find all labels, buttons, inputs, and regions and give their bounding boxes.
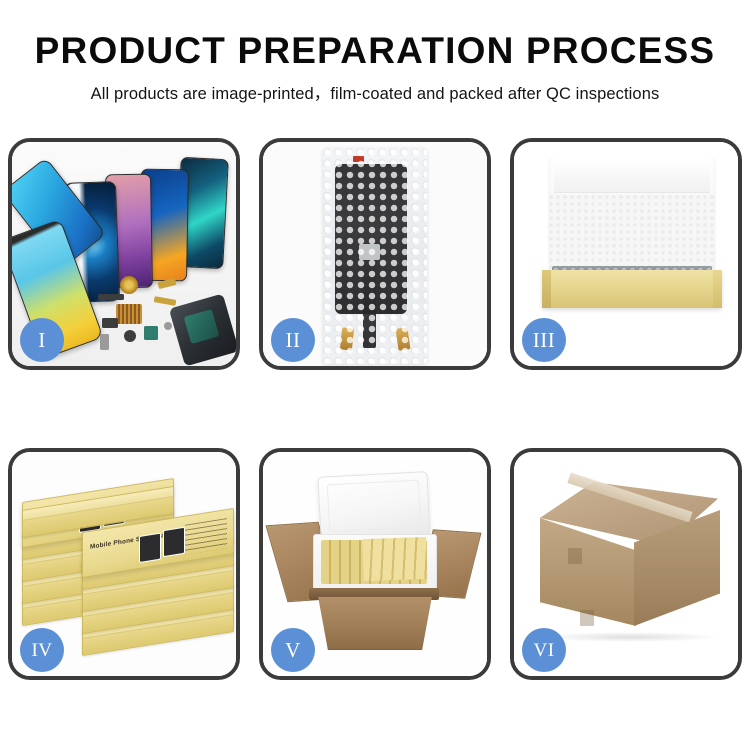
page-title: PRODUCT PREPARATION PROCESS [0, 32, 750, 71]
step-panel-6: VI [510, 448, 742, 680]
step-panel-3: III [510, 138, 742, 370]
step-panel-5: V [259, 448, 491, 680]
carton-flap-seam [568, 548, 582, 564]
gold-flex-part [157, 278, 176, 289]
gold-contact-tab-right [396, 327, 411, 350]
box-screen-thumbnail [163, 527, 185, 557]
box-spec-text-block [185, 518, 227, 555]
gold-flex-part-2 [154, 296, 177, 306]
step-badge-1: I [20, 318, 64, 362]
carton-flap-seam-2 [580, 610, 594, 626]
foam-liner-texture [548, 194, 716, 272]
box-brand-label: Mobile Phone Spare Parts [90, 531, 174, 551]
step-badge-2: II [271, 318, 315, 362]
step-badge-5: V [271, 628, 315, 672]
step-badge-6: VI [522, 628, 566, 672]
step-panel-2: II [259, 138, 491, 370]
step-panel-4: Mobile Phone Spare Parts Mobile Phone Sp… [8, 448, 240, 680]
step-badge-3: III [522, 318, 566, 362]
bubble-wrap-bag [323, 148, 427, 364]
qc-sticker [353, 156, 364, 162]
foam-cooler-lid [317, 471, 430, 541]
battery-connector-part [144, 326, 158, 340]
inner-boxes-row-2 [362, 537, 427, 581]
step-badge-4: IV [20, 628, 64, 672]
speaker-part-icon [120, 276, 138, 294]
cable-connector-pad [359, 244, 380, 260]
step-panel-1: I [8, 138, 240, 370]
sim-tray-part [100, 334, 109, 350]
header: PRODUCT PREPARATION PROCESS All products… [0, 0, 750, 104]
product-preparation-infographic: PRODUCT PREPARATION PROCESS All products… [0, 0, 750, 750]
process-steps-grid: I II [8, 138, 742, 680]
carton-front-panel [313, 596, 437, 650]
gold-contact-tab-left [340, 327, 354, 350]
mesh-chip-part [116, 304, 142, 324]
screw-part [164, 322, 172, 330]
connector-part [98, 294, 124, 300]
kraft-inner-box [542, 270, 722, 308]
camera-module-part [102, 318, 118, 328]
button-part [124, 330, 136, 342]
carton-shadow [542, 632, 718, 642]
box-screen-thumbnail [139, 533, 161, 563]
page-subtitle: All products are image-printed，film-coat… [0, 80, 750, 104]
